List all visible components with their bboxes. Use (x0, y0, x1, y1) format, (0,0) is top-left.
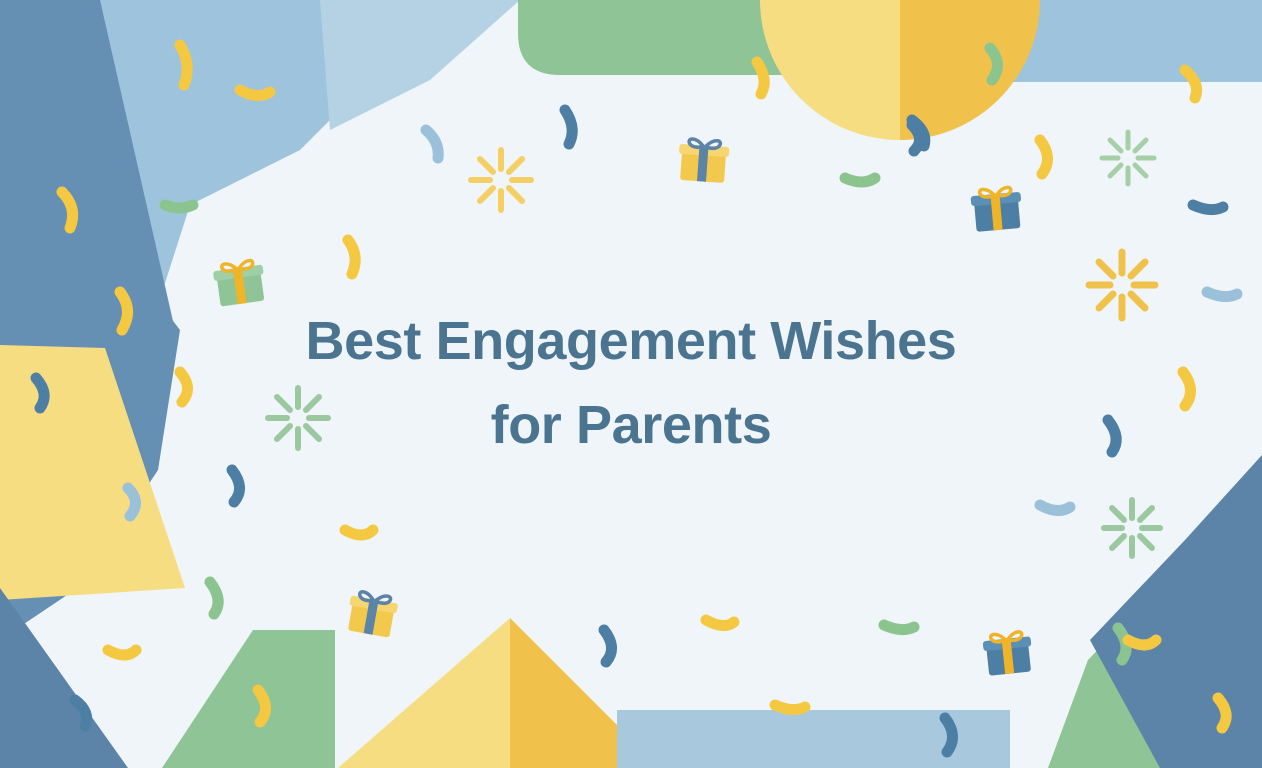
confetti-ribbon (240, 90, 270, 96)
confetti-ribbon (1207, 292, 1237, 297)
confetti-ribbon (884, 625, 914, 630)
confetti-ribbon (345, 530, 373, 535)
confetti-ribbon (706, 620, 734, 626)
confetti-ribbon (1128, 640, 1156, 645)
gift-box-blue-icon (970, 186, 1023, 232)
confetti-ribbon (845, 178, 875, 182)
gift-box-green-icon (212, 259, 267, 307)
confetti-ribbon (1040, 505, 1070, 511)
decorative-background (0, 0, 1262, 768)
confetti-ribbon (165, 205, 193, 208)
gift-box-blue-icon-2 (982, 631, 1034, 676)
confetti-ribbon (775, 705, 805, 710)
confetti-ribbon (108, 650, 136, 655)
confetti-ribbon (1193, 205, 1223, 210)
greeting-card-banner: Best Engagement Wishes for Parents (0, 0, 1262, 768)
